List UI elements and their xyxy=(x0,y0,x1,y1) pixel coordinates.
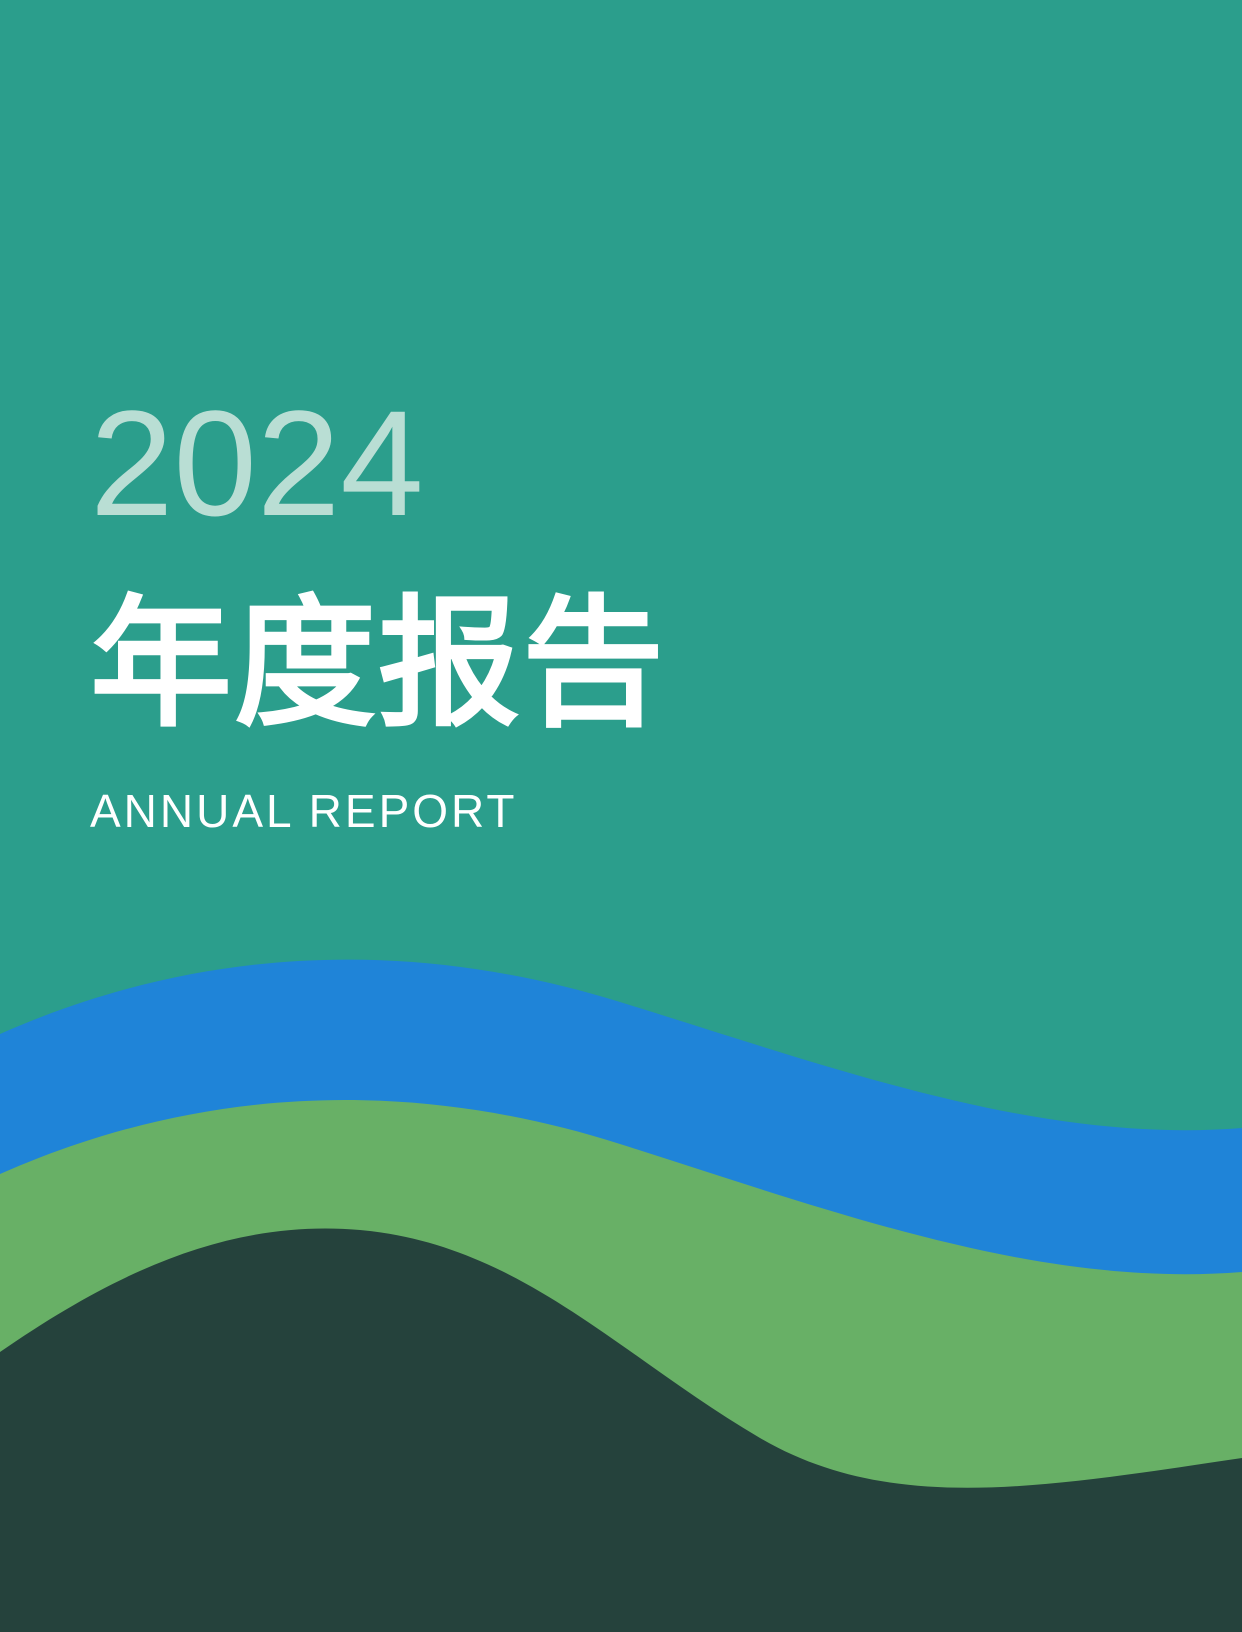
page-title: 年度报告 xyxy=(90,538,990,736)
decorative-wave-graphic xyxy=(0,932,1242,1632)
page-subtitle: ANNUAL REPORT xyxy=(90,736,990,834)
cover-text-block: 2024 年度报告 ANNUAL REPORT xyxy=(90,388,990,834)
cover-year: 2024 xyxy=(90,388,990,538)
annual-report-cover-page: 2024 年度报告 ANNUAL REPORT xyxy=(0,0,1242,1632)
